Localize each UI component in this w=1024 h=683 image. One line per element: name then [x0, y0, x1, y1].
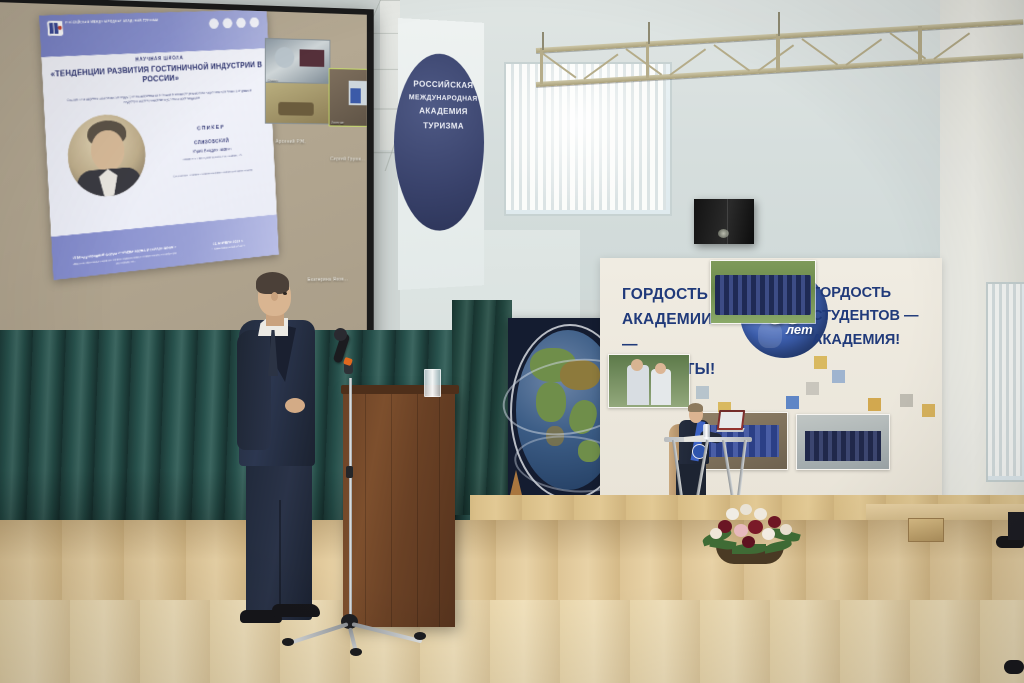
slide-topic-note: Современное состояние и перспективы разв… — [159, 168, 265, 180]
zoom-thumb-label-2: Zoom чат — [331, 121, 344, 125]
podium — [343, 389, 455, 627]
banner-right-line-3: АКАДЕМИЯ! — [812, 329, 932, 352]
slide-speaker-label: СПИКЕР — [155, 122, 265, 135]
partner-logo-4 — [250, 17, 260, 27]
academy-line-3: АКАДЕМИЯ — [398, 103, 488, 119]
speaker-shoe-right — [272, 604, 320, 617]
partner-logo-3 — [236, 18, 246, 28]
partner-logo-2 — [223, 18, 233, 29]
zoom-participant-name-1: Арсений Р.М. — [276, 139, 306, 145]
truss-hanger — [542, 32, 544, 50]
decor-square — [832, 370, 845, 383]
speaker-brow — [281, 288, 289, 290]
partner-logo-1 — [209, 18, 219, 29]
mic-tripod-foot-front — [350, 648, 362, 656]
speaker-hand — [285, 398, 305, 413]
slide-subtitle: Состояние и перспективы развития индустр… — [65, 88, 254, 108]
water-bottle — [703, 424, 710, 439]
zoom-participant-name-3: Екатерина Яков... — [308, 277, 349, 283]
water-glass — [424, 369, 441, 397]
foreground-person-shoe-2 — [1004, 660, 1024, 674]
banner-photo-students — [608, 354, 690, 408]
podium-top-surface — [341, 385, 459, 394]
flower-arrangement — [702, 498, 802, 554]
hall-floor-front — [0, 600, 1024, 683]
decor-square — [806, 382, 819, 395]
speaker-hair — [256, 272, 289, 294]
microphone-stand-pole — [349, 378, 352, 623]
rmat-logo-icon — [47, 21, 63, 36]
zoom-participant-name-2: Сергей Грушк... — [330, 156, 365, 162]
decor-square — [900, 394, 913, 407]
zoom-thumbnail-room[interactable] — [265, 82, 330, 125]
banner-right-text: ГОРДОСТЬ СТУДЕНТОВ — АКАДЕМИЯ! — [812, 282, 932, 352]
banner-photo-graduates — [710, 260, 816, 324]
banner-right-line-2: СТУДЕНТОВ — — [812, 305, 932, 328]
decor-square — [696, 386, 709, 399]
anniversary-word: лет — [786, 322, 813, 337]
slide-header-band — [39, 10, 268, 57]
zoom-thumbnail-active[interactable]: Zoom чат — [329, 68, 367, 127]
conference-hall-photo: РОССИЙСКАЯ МЕЖДУНАРОДНАЯ АКАДЕМИЯ ТУРИЗМ… — [0, 0, 1024, 683]
speaker-ear — [271, 292, 278, 301]
banner-photo-group — [796, 414, 890, 470]
anniversary-banner: ГОРДОСТЬ АКАДЕМИИ — СТУДЕНТЫ! 50 лет ГОР… — [600, 258, 942, 503]
laptop-screen — [717, 410, 745, 430]
academy-line-2: МЕЖДУНАРОДНАЯ — [398, 91, 488, 105]
loudspeaker — [694, 199, 754, 244]
mic-tripod-foot-right — [414, 632, 426, 640]
academy-line-4: ТУРИЗМА — [398, 118, 488, 134]
speaker-portrait — [66, 113, 148, 200]
window-blinds-right — [988, 284, 1022, 476]
zoom-thumbnail-speaker[interactable]: Спикер — [265, 38, 330, 85]
mic-height-adjust-knob[interactable] — [346, 466, 353, 478]
truss-hanger — [648, 22, 650, 44]
decor-square — [922, 404, 935, 417]
partner-logos-row — [209, 17, 259, 29]
speaker-eye — [283, 292, 287, 295]
seated-man-hair — [688, 403, 703, 412]
lighting-truss — [528, 8, 1024, 118]
decor-square — [814, 356, 827, 369]
presentation-slide: РОССИЙСКАЯ МЕЖДУНАРОДНАЯ АКАДЕМИЯ ТУРИЗМ… — [39, 10, 279, 280]
truss-hanger — [778, 12, 780, 36]
speaker-leg-divider — [279, 500, 281, 620]
mic-tripod-foot-left — [282, 638, 294, 646]
wooden-box — [908, 518, 944, 542]
foreground-person-leg — [1008, 512, 1024, 540]
academy-wall-panel: РОССИЙСКАЯ МЕЖДУНАРОДНАЯ АКАДЕМИЯ ТУРИЗМ… — [398, 18, 484, 290]
decor-square — [786, 396, 799, 409]
academy-wall-text: РОССИЙСКАЯ МЕЖДУНАРОДНАЯ АКАДЕМИЯ ТУРИЗМ… — [398, 76, 488, 134]
floor-shadow — [0, 520, 1024, 560]
banner-right-line-1: ГОРДОСТЬ — [812, 282, 932, 305]
speaker-arm — [237, 330, 271, 450]
decor-square — [868, 398, 881, 411]
